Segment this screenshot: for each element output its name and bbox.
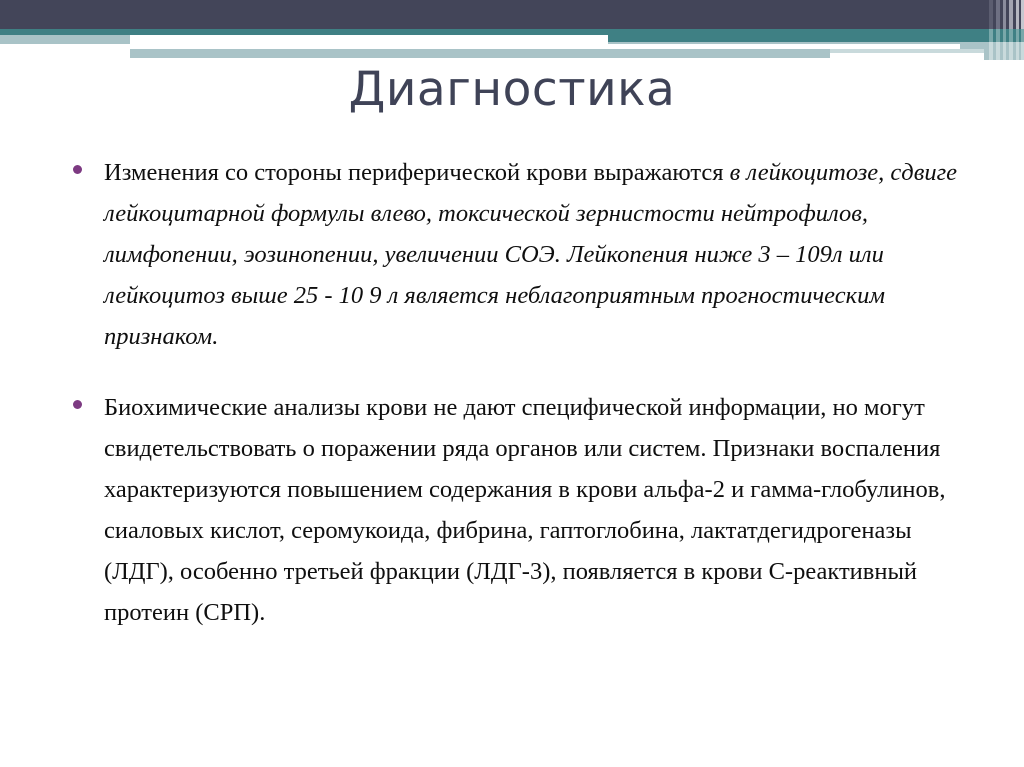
bullet-paragraph-1: Изменения со стороны периферической кров… bbox=[104, 152, 966, 357]
bullet-1-lead-text: Изменения со стороны периферической кров… bbox=[104, 159, 724, 186]
list-item: Биохимические анализы крови не дают спец… bbox=[66, 387, 966, 633]
header-band-pale-left bbox=[0, 35, 130, 44]
bullet-paragraph-2: Биохимические анализы крови не дают спец… bbox=[104, 387, 966, 633]
bullet-dot-icon bbox=[73, 400, 82, 409]
slide-body: Изменения со стороны периферической кров… bbox=[66, 152, 966, 663]
header-decoration bbox=[0, 0, 1024, 60]
header-band-pale-step-two bbox=[130, 49, 830, 58]
page-title: Диагностика bbox=[0, 62, 1024, 117]
header-vertical-stripes bbox=[984, 0, 1024, 60]
bullet-1-italic-text: в лейкоцитозе, сдвиге лейкоцитарной форм… bbox=[104, 159, 957, 350]
bullet-dot-icon bbox=[73, 165, 82, 174]
list-item: Изменения со стороны периферической кров… bbox=[66, 152, 966, 357]
header-band-dark bbox=[0, 0, 1024, 29]
header-white-wedge-lower-left bbox=[0, 44, 130, 60]
